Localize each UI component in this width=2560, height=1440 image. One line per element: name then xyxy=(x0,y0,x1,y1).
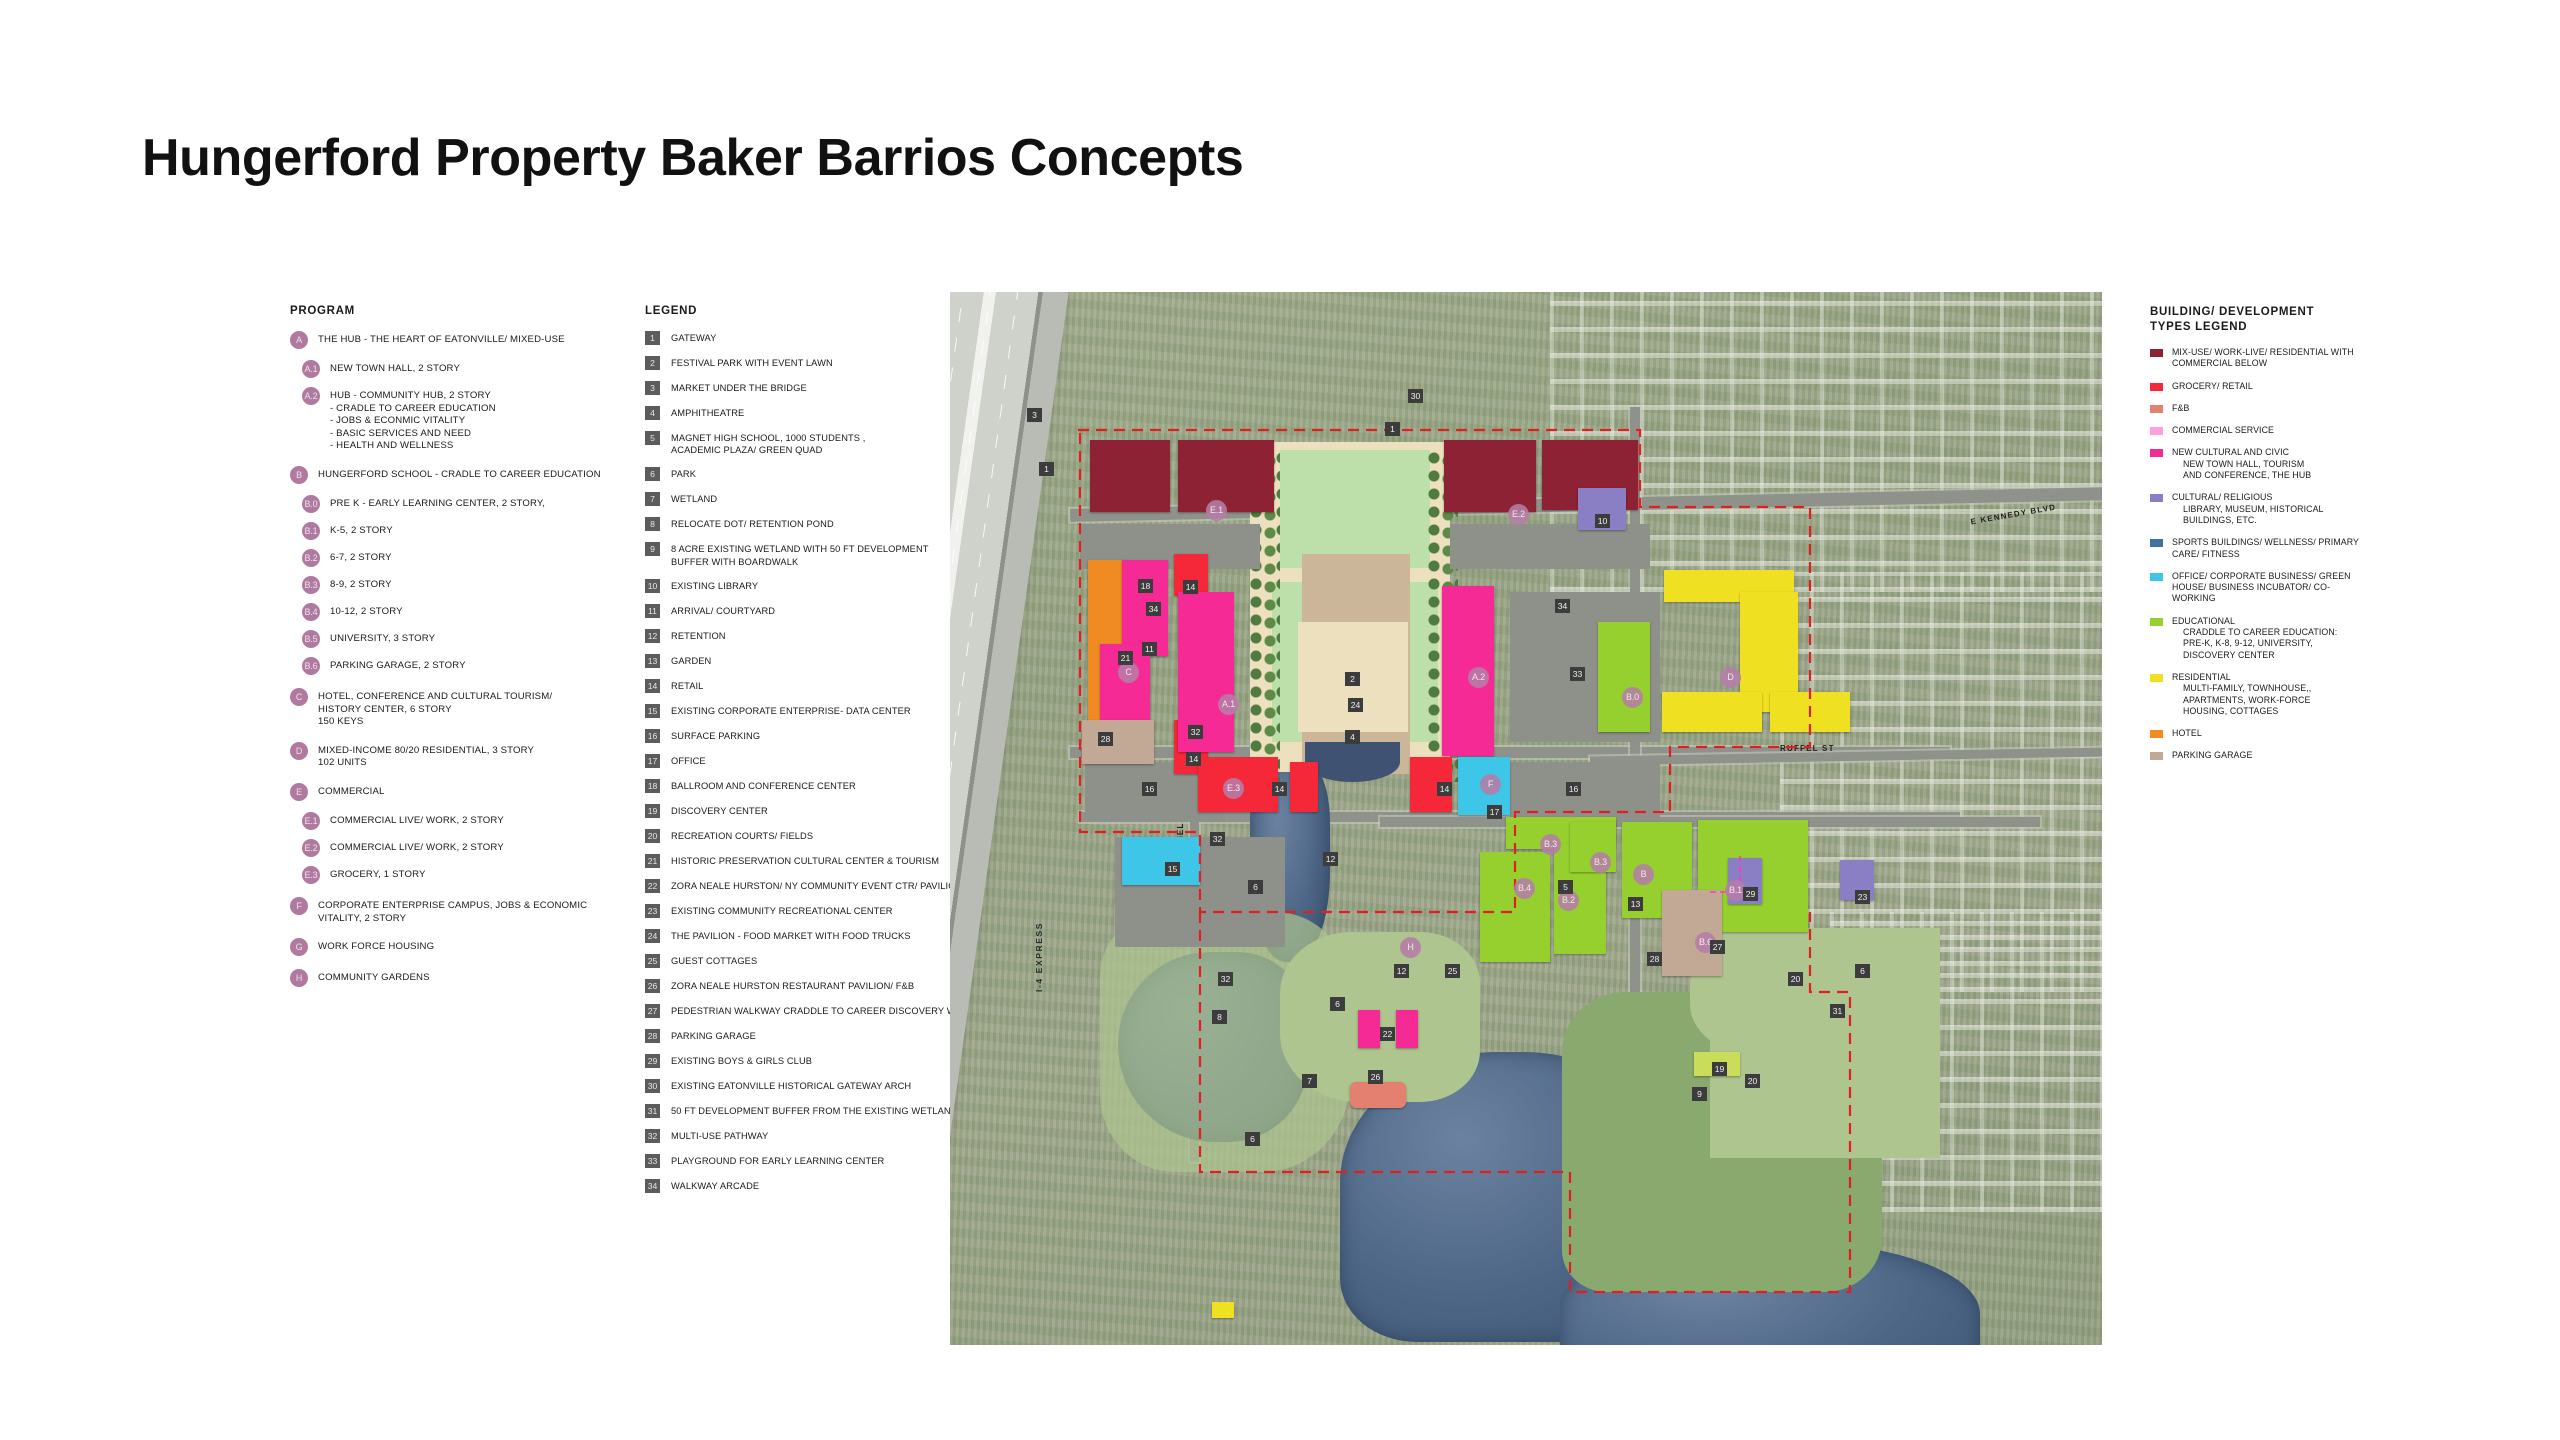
legend-number-badge: 31 xyxy=(645,1104,660,1118)
program-item-label: WORK FORCE HOUSING xyxy=(318,938,434,954)
map-legend-marker[interactable]: 16 xyxy=(1142,782,1157,796)
program-item-b-5: B.5UNIVERSITY, 3 STORY xyxy=(290,630,620,648)
color-swatch xyxy=(2150,674,2163,682)
legend-item-label: GATEWAY xyxy=(671,331,716,344)
program-item-label: COMMERCIAL xyxy=(318,783,385,799)
legend-item-label: WETLAND xyxy=(671,492,717,505)
legend-item-label: MAGNET HIGH SCHOOL, 1000 STUDENTS , ACAD… xyxy=(671,431,865,456)
map-legend-marker[interactable]: 14 xyxy=(1183,580,1198,594)
program-badge: C xyxy=(290,688,308,706)
map-legend-marker[interactable]: 28 xyxy=(1647,952,1662,966)
legend-number-badge: 23 xyxy=(645,904,660,918)
map-legend-marker[interactable]: 10 xyxy=(1595,514,1610,528)
building-type-title: HOTEL xyxy=(2172,728,2440,739)
legend-item-label: GARDEN xyxy=(671,654,711,667)
program-badge: E.1 xyxy=(302,812,320,830)
building-type-item: OFFICE/ CORPORATE BUSINESS/ GREEN HOUSE/… xyxy=(2150,571,2440,605)
building-type-body: HOTEL xyxy=(2172,728,2440,739)
color-swatch xyxy=(2150,405,2163,413)
building-a1-town-hall xyxy=(1178,592,1234,752)
program-badge: B.0 xyxy=(302,495,320,513)
map-legend-marker[interactable]: 34 xyxy=(1146,602,1161,616)
building-types-list: MIX-USE/ WORK-LIVE/ RESIDENTIAL WITH COM… xyxy=(2150,347,2440,762)
map-program-marker[interactable]: E.1 xyxy=(1206,500,1227,521)
legend-item-15: 15EXISTING CORPORATE ENTERPRISE- DATA CE… xyxy=(645,704,975,718)
map-program-marker[interactable]: B.4 xyxy=(1514,878,1535,899)
building-type-item: GROCERY/ RETAIL xyxy=(2150,381,2440,392)
building-type-body: NEW CULTURAL AND CIVICNEW TOWN HALL, TOU… xyxy=(2172,447,2440,481)
program-badge: B.3 xyxy=(302,576,320,594)
legend-item-6: 6PARK xyxy=(645,467,975,481)
map-legend-marker[interactable]: 6 xyxy=(1245,1132,1260,1146)
building-15-data-center xyxy=(1122,837,1200,885)
color-swatch xyxy=(2150,573,2163,581)
legend-item-label: WALKWAY ARCADE xyxy=(671,1179,759,1192)
building-e1-a xyxy=(1090,440,1170,512)
program-badge: G xyxy=(290,938,308,956)
map-legend-marker[interactable]: 27 xyxy=(1710,940,1725,954)
legend-item-19: 19DISCOVERY CENTER xyxy=(645,804,975,818)
legend-item-label: AMPHITHEATRE xyxy=(671,406,744,419)
legend-number-badge: 27 xyxy=(645,1004,660,1018)
legend-number-badge: 18 xyxy=(645,779,660,793)
legend-item-label: RECREATION COURTS/ FIELDS xyxy=(671,829,813,842)
legend-number-badge: 3 xyxy=(645,381,660,395)
legend-item-label: HISTORIC PRESERVATION CULTURAL CENTER & … xyxy=(671,854,939,867)
program-item-a-2: A.2HUB - COMMUNITY HUB, 2 STORY - CRADLE… xyxy=(290,387,620,453)
building-type-body: SPORTS BUILDINGS/ WELLNESS/ PRIMARY CARE… xyxy=(2172,537,2440,560)
building-type-sublabel: CRADDLE TO CAREER EDUCATION: PRE-K, K-8,… xyxy=(2183,627,2440,661)
map-legend-marker[interactable]: 1 xyxy=(1039,462,1054,476)
map-legend-marker[interactable]: 12 xyxy=(1323,852,1338,866)
building-type-body: F&B xyxy=(2172,403,2440,414)
map-legend-marker[interactable]: 16 xyxy=(1566,782,1581,796)
legend-number-badge: 28 xyxy=(645,1029,660,1043)
legend-item-label: 8 ACRE EXISTING WETLAND WITH 50 FT DEVEL… xyxy=(671,542,929,567)
legend-column: LEGEND 1GATEWAY2FESTIVAL PARK WITH EVENT… xyxy=(645,305,975,1204)
map-legend-marker[interactable]: 19 xyxy=(1712,1062,1727,1076)
legend-item-label: 50 FT DEVELOPMENT BUFFER FROM THE EXISTI… xyxy=(671,1104,958,1117)
building-28-parking-garage xyxy=(1082,720,1154,764)
building-type-title: CULTURAL/ RELIGIOUS xyxy=(2172,492,2440,503)
building-type-item: RESIDENTIALMULTI-FAMILY, TOWNHOUSE,, APA… xyxy=(2150,672,2440,717)
legend-heading: LEGEND xyxy=(645,305,975,317)
program-badge: E.2 xyxy=(302,839,320,857)
program-item-label: COMMERCIAL LIVE/ WORK, 2 STORY xyxy=(330,839,504,855)
map-legend-marker[interactable]: 15 xyxy=(1165,862,1180,876)
map-program-marker[interactable]: E.3 xyxy=(1223,778,1244,799)
map-legend-marker[interactable]: 17 xyxy=(1487,805,1502,819)
program-item-label: PARKING GARAGE, 2 STORY xyxy=(330,657,466,673)
map-program-marker[interactable]: H xyxy=(1400,937,1421,958)
map-legend-marker[interactable]: 12 xyxy=(1394,964,1409,978)
legend-item-16: 16SURFACE PARKING xyxy=(645,729,975,743)
map-legend-marker[interactable]: 14 xyxy=(1437,782,1452,796)
legend-item-label: GUEST COTTAGES xyxy=(671,954,757,967)
building-type-item: PARKING GARAGE xyxy=(2150,750,2440,761)
legend-item-label: PARK xyxy=(671,467,696,480)
program-item-b-1: B.1K-5, 2 STORY xyxy=(290,522,620,540)
legend-item-label: EXISTING BOYS & GIRLS CLUB xyxy=(671,1054,812,1067)
map-legend-marker[interactable]: 5 xyxy=(1558,880,1573,894)
building-type-title: F&B xyxy=(2172,403,2440,414)
program-item-label: UNIVERSITY, 3 STORY xyxy=(330,630,435,646)
slide-canvas: Hungerford Property Baker Barrios Concep… xyxy=(0,0,2560,1440)
legend-item-label: RETAIL xyxy=(671,679,703,692)
program-badge: H xyxy=(290,969,308,987)
legend-item-label: ARRIVAL/ COURTYARD xyxy=(671,604,775,617)
color-swatch xyxy=(2150,494,2163,502)
legend-number-badge: 1 xyxy=(645,331,660,345)
map-legend-marker[interactable]: 32 xyxy=(1210,832,1225,846)
program-item-b-0: B.0PRE K - EARLY LEARNING CENTER, 2 STOR… xyxy=(290,495,620,513)
program-badge: B.4 xyxy=(302,603,320,621)
legend-item-label: EXISTING CORPORATE ENTERPRISE- DATA CENT… xyxy=(671,704,911,717)
map-legend-marker[interactable]: 25 xyxy=(1445,964,1460,978)
legend-list: 1GATEWAY2FESTIVAL PARK WITH EVENT LAWN3M… xyxy=(645,331,975,1193)
building-e1-b xyxy=(1178,440,1274,512)
program-item-e-3: E.3GROCERY, 1 STORY xyxy=(290,866,620,884)
program-badge: F xyxy=(290,897,308,915)
building-type-item: SPORTS BUILDINGS/ WELLNESS/ PRIMARY CARE… xyxy=(2150,537,2440,560)
program-item-label: HUNGERFORD SCHOOL - CRADLE TO CAREER EDU… xyxy=(318,466,601,482)
building-14-retail-mid xyxy=(1290,762,1318,812)
map-legend-marker[interactable]: 9 xyxy=(1692,1087,1707,1101)
program-item-label: HUB - COMMUNITY HUB, 2 STORY - CRADLE TO… xyxy=(330,387,496,453)
program-column: PROGRAM ATHE HUB - THE HEART OF EATONVIL… xyxy=(290,305,620,998)
map-legend-marker[interactable]: 20 xyxy=(1788,972,1803,986)
legend-item-4: 4AMPHITHEATRE xyxy=(645,406,975,420)
building-22-pavilion-b xyxy=(1396,1010,1418,1048)
map-program-marker[interactable]: F xyxy=(1480,774,1501,795)
event-lawn-north xyxy=(1280,450,1430,568)
legend-item-13: 13GARDEN xyxy=(645,654,975,668)
map-legend-marker[interactable]: 6 xyxy=(1855,964,1870,978)
program-badge: B.1 xyxy=(302,522,320,540)
legend-number-badge: 17 xyxy=(645,754,660,768)
legend-item-label: THE PAVILION - FOOD MARKET WITH FOOD TRU… xyxy=(671,929,911,942)
building-type-title: RESIDENTIAL xyxy=(2172,672,2440,683)
building-type-title: GROCERY/ RETAIL xyxy=(2172,381,2440,392)
legend-item-24: 24THE PAVILION - FOOD MARKET WITH FOOD T… xyxy=(645,929,975,943)
legend-number-badge: 14 xyxy=(645,679,660,693)
page-title: Hungerford Property Baker Barrios Concep… xyxy=(142,128,1243,188)
legend-number-badge: 20 xyxy=(645,829,660,843)
program-item-c: CHOTEL, CONFERENCE AND CULTURAL TOURISM/… xyxy=(290,688,620,729)
program-badge: B xyxy=(290,466,308,484)
legend-number-badge: 5 xyxy=(645,431,660,445)
building-type-title: EDUCATIONAL xyxy=(2172,616,2440,627)
i4-express-label: I-4 EXPRESS xyxy=(1034,922,1044,992)
legend-number-badge: 24 xyxy=(645,929,660,943)
program-item-d: DMIXED-INCOME 80/20 RESIDENTIAL, 3 STORY… xyxy=(290,742,620,770)
program-item-label: COMMERCIAL LIVE/ WORK, 2 STORY xyxy=(330,812,504,828)
building-type-title: SPORTS BUILDINGS/ WELLNESS/ PRIMARY CARE… xyxy=(2172,537,2440,560)
program-badge: E.3 xyxy=(302,866,320,884)
legend-number-badge: 26 xyxy=(645,979,660,993)
building-type-item: COMMERCIAL SERVICE xyxy=(2150,425,2440,436)
legend-item-11: 11ARRIVAL/ COURTYARD xyxy=(645,604,975,618)
building-type-title: NEW CULTURAL AND CIVIC xyxy=(2172,447,2440,458)
legend-number-badge: 29 xyxy=(645,1054,660,1068)
park-west xyxy=(1100,912,1350,1172)
color-swatch xyxy=(2150,539,2163,547)
legend-item-10: 10EXISTING LIBRARY xyxy=(645,579,975,593)
program-item-label: 6-7, 2 STORY xyxy=(330,549,392,565)
building-d-residential-d xyxy=(1770,692,1850,732)
map-legend-marker[interactable]: 32 xyxy=(1218,972,1233,986)
legend-item-label: EXISTING LIBRARY xyxy=(671,579,758,592)
legend-item-30: 30EXISTING EATONVILLE HISTORICAL GATEWAY… xyxy=(645,1079,975,1093)
map-program-marker[interactable]: E.2 xyxy=(1508,504,1529,525)
map-legend-marker[interactable]: 29 xyxy=(1743,887,1758,901)
program-item-label: PRE K - EARLY LEARNING CENTER, 2 STORY, xyxy=(330,495,545,511)
map-legend-marker[interactable]: 24 xyxy=(1348,698,1363,712)
map-legend-marker[interactable]: 6 xyxy=(1330,997,1345,1011)
program-item-h: HCOMMUNITY GARDENS xyxy=(290,969,620,987)
legend-item-label: ZORA NEALE HURSTON RESTAURANT PAVILION/ … xyxy=(671,979,914,992)
building-type-body: RESIDENTIALMULTI-FAMILY, TOWNHOUSE,, APA… xyxy=(2172,672,2440,717)
color-swatch xyxy=(2150,349,2163,357)
legend-item-25: 25GUEST COTTAGES xyxy=(645,954,975,968)
map-legend-marker[interactable]: 3 xyxy=(1027,408,1042,422)
legend-item-label: OFFICE xyxy=(671,754,706,767)
program-item-b-6: B.6PARKING GARAGE, 2 STORY xyxy=(290,657,620,675)
legend-number-badge: 13 xyxy=(645,654,660,668)
legend-number-badge: 32 xyxy=(645,1129,660,1143)
legend-item-32: 32MULTI-USE PATHWAY xyxy=(645,1129,975,1143)
program-badge: D xyxy=(290,742,308,760)
map-legend-marker[interactable]: 4 xyxy=(1345,730,1360,744)
ruffel-st-label: RUFFEL ST xyxy=(1780,744,1835,753)
building-south-residential xyxy=(1212,1302,1234,1318)
program-item-label: K-5, 2 STORY xyxy=(330,522,393,538)
program-badge: A xyxy=(290,331,308,349)
legend-item-label: RELOCATE DOT/ RETENTION POND xyxy=(671,517,834,530)
program-item-e-2: E.2COMMERCIAL LIVE/ WORK, 2 STORY xyxy=(290,839,620,857)
legend-item-label: RETENTION xyxy=(671,629,726,642)
legend-item-label: MARKET UNDER THE BRIDGE xyxy=(671,381,807,394)
program-item-a-1: A.1NEW TOWN HALL, 2 STORY xyxy=(290,360,620,378)
map-program-marker[interactable]: B.3 xyxy=(1540,834,1561,855)
map-legend-marker[interactable]: 8 xyxy=(1212,1010,1227,1024)
legend-number-badge: 12 xyxy=(645,629,660,643)
map-legend-marker[interactable]: 31 xyxy=(1830,1004,1845,1018)
map-legend-marker[interactable]: 14 xyxy=(1272,782,1287,796)
legend-item-17: 17OFFICE xyxy=(645,754,975,768)
program-item-label: HOTEL, CONFERENCE AND CULTURAL TOURISM/ … xyxy=(318,688,552,729)
building-22-pavilion-a xyxy=(1358,1010,1380,1048)
legend-number-badge: 21 xyxy=(645,854,660,868)
legend-number-badge: 30 xyxy=(645,1079,660,1093)
building-type-sublabel: NEW TOWN HALL, TOURISM AND CONFERENCE, T… xyxy=(2183,459,2440,482)
legend-number-badge: 6 xyxy=(645,467,660,481)
program-badge: A.1 xyxy=(302,360,320,378)
map-legend-marker[interactable]: 6 xyxy=(1248,880,1263,894)
color-swatch xyxy=(2150,730,2163,738)
program-item-label: COMMUNITY GARDENS xyxy=(318,969,430,985)
building-type-body: COMMERCIAL SERVICE xyxy=(2172,425,2440,436)
map-program-marker[interactable]: A.1 xyxy=(1218,694,1239,715)
map-program-marker[interactable]: C xyxy=(1118,662,1139,683)
legend-number-badge: 15 xyxy=(645,704,660,718)
legend-item-label: PLAYGROUND FOR EARLY LEARNING CENTER xyxy=(671,1154,884,1167)
map-program-marker[interactable]: B.3 xyxy=(1590,852,1611,873)
legend-item-label: EXISTING EATONVILLE HISTORICAL GATEWAY A… xyxy=(671,1079,911,1092)
program-item-b-4: B.410-12, 2 STORY xyxy=(290,603,620,621)
building-type-sublabel: MULTI-FAMILY, TOWNHOUSE,, APARTMENTS, WO… xyxy=(2183,683,2440,717)
building-type-item: EDUCATIONALCRADDLE TO CAREER EDUCATION: … xyxy=(2150,616,2440,661)
building-type-sublabel: LIBRARY, MUSEUM, HISTORICAL BUILDINGS, E… xyxy=(2183,504,2440,527)
building-26-restaurant xyxy=(1350,1082,1406,1108)
program-item-g: GWORK FORCE HOUSING xyxy=(290,938,620,956)
legend-number-badge: 34 xyxy=(645,1179,660,1193)
map-legend-marker[interactable]: 33 xyxy=(1570,667,1585,681)
legend-number-badge: 9 xyxy=(645,542,660,556)
legend-item-label: SURFACE PARKING xyxy=(671,729,760,742)
map-legend-marker[interactable]: 18 xyxy=(1138,579,1153,593)
map-legend-marker[interactable]: 20 xyxy=(1745,1074,1760,1088)
map-program-marker[interactable]: D xyxy=(1720,667,1741,688)
map-legend-marker[interactable]: 7 xyxy=(1302,1074,1317,1088)
color-swatch xyxy=(2150,383,2163,391)
legend-item-label: PARKING GARAGE xyxy=(671,1029,756,1042)
legend-item-label: DISCOVERY CENTER xyxy=(671,804,768,817)
program-item-label: NEW TOWN HALL, 2 STORY xyxy=(330,360,460,376)
building-type-body: EDUCATIONALCRADDLE TO CAREER EDUCATION: … xyxy=(2172,616,2440,661)
legend-item-1: 1GATEWAY xyxy=(645,331,975,345)
legend-number-badge: 16 xyxy=(645,729,660,743)
program-item-label: GROCERY, 1 STORY xyxy=(330,866,426,882)
map-legend-marker[interactable]: 32 xyxy=(1188,725,1203,739)
legend-item-2: 2FESTIVAL PARK WITH EVENT LAWN xyxy=(645,356,975,370)
legend-item-28: 28PARKING GARAGE xyxy=(645,1029,975,1043)
building-b4 xyxy=(1480,852,1550,962)
building-type-item: HOTEL xyxy=(2150,728,2440,739)
map-program-marker[interactable]: B xyxy=(1633,864,1654,885)
map-legend-marker[interactable]: 30 xyxy=(1408,389,1423,403)
program-badge: A.2 xyxy=(302,387,320,405)
legend-item-9: 98 ACRE EXISTING WETLAND WITH 50 FT DEVE… xyxy=(645,542,975,567)
building-type-body: GROCERY/ RETAIL xyxy=(2172,381,2440,392)
program-item-label: 10-12, 2 STORY xyxy=(330,603,403,619)
building-types-heading: BUILDING/ DEVELOPMENT TYPES LEGEND xyxy=(2150,305,2440,335)
legend-item-7: 7WETLAND xyxy=(645,492,975,506)
legend-number-badge: 19 xyxy=(645,804,660,818)
site-plan-map[interactable]: I-4 EXPRESS E KENNEDY BLVD S COLLEGE AVE… xyxy=(950,292,2102,1345)
program-list: ATHE HUB - THE HEART OF EATONVILLE/ MIXE… xyxy=(290,331,620,987)
building-type-title: MIX-USE/ WORK-LIVE/ RESIDENTIAL WITH COM… xyxy=(2172,347,2440,370)
legend-item-23: 23EXISTING COMMUNITY RECREATIONAL CENTER xyxy=(645,904,975,918)
map-legend-marker[interactable]: 2 xyxy=(1345,672,1360,686)
program-item-e-1: E.1COMMERCIAL LIVE/ WORK, 2 STORY xyxy=(290,812,620,830)
legend-item-33: 33PLAYGROUND FOR EARLY LEARNING CENTER xyxy=(645,1154,975,1168)
building-type-item: F&B xyxy=(2150,403,2440,414)
legend-item-29: 29EXISTING BOYS & GIRLS CLUB xyxy=(645,1054,975,1068)
legend-item-5: 5MAGNET HIGH SCHOOL, 1000 STUDENTS , ACA… xyxy=(645,431,975,456)
color-swatch xyxy=(2150,449,2163,457)
map-legend-marker[interactable]: 26 xyxy=(1368,1070,1383,1084)
legend-number-badge: 4 xyxy=(645,406,660,420)
building-d-residential-c xyxy=(1662,692,1762,732)
legend-item-20: 20RECREATION COURTS/ FIELDS xyxy=(645,829,975,843)
building-types-legend: BUILDING/ DEVELOPMENT TYPES LEGEND MIX-U… xyxy=(2150,305,2440,773)
rec-fields-20 xyxy=(1710,928,1940,1158)
legend-item-14: 14RETAIL xyxy=(645,679,975,693)
program-item-b-2: B.26-7, 2 STORY xyxy=(290,549,620,567)
legend-item-22: 22ZORA NEALE HURSTON/ NY COMMUNITY EVENT… xyxy=(645,879,975,893)
legend-item-34: 34WALKWAY ARCADE xyxy=(645,1179,975,1193)
program-badge: B.6 xyxy=(302,657,320,675)
program-badge: B.5 xyxy=(302,630,320,648)
map-legend-marker[interactable]: 14 xyxy=(1186,752,1201,766)
program-item-e: ECOMMERCIAL xyxy=(290,783,620,801)
legend-item-31: 3150 FT DEVELOPMENT BUFFER FROM THE EXIS… xyxy=(645,1104,975,1118)
program-badge: B.2 xyxy=(302,549,320,567)
legend-number-badge: 25 xyxy=(645,954,660,968)
legend-number-badge: 8 xyxy=(645,517,660,531)
program-item-a: ATHE HUB - THE HEART OF EATONVILLE/ MIXE… xyxy=(290,331,620,349)
building-type-body: PARKING GARAGE xyxy=(2172,750,2440,761)
legend-item-label: FESTIVAL PARK WITH EVENT LAWN xyxy=(671,356,833,369)
map-program-marker[interactable]: A.2 xyxy=(1468,667,1489,688)
legend-number-badge: 33 xyxy=(645,1154,660,1168)
legend-number-badge: 22 xyxy=(645,879,660,893)
legend-item-label: PEDESTRIAN WALKWAY CRADDLE TO CAREER DIS… xyxy=(671,1004,973,1017)
legend-item-8: 8RELOCATE DOT/ RETENTION POND xyxy=(645,517,975,531)
legend-item-18: 18BALLROOM AND CONFERENCE CENTER xyxy=(645,779,975,793)
building-type-title: OFFICE/ CORPORATE BUSINESS/ GREEN HOUSE/… xyxy=(2172,571,2440,605)
legend-item-26: 26ZORA NEALE HURSTON RESTAURANT PAVILION… xyxy=(645,979,975,993)
map-program-marker[interactable]: B.0 xyxy=(1622,687,1643,708)
legend-number-badge: 2 xyxy=(645,356,660,370)
color-swatch xyxy=(2150,427,2163,435)
legend-item-label: EXISTING COMMUNITY RECREATIONAL CENTER xyxy=(671,904,893,917)
building-type-item: CULTURAL/ RELIGIOUSLIBRARY, MUSEUM, HIST… xyxy=(2150,492,2440,526)
map-legend-marker[interactable]: 21 xyxy=(1118,651,1133,665)
map-legend-marker[interactable]: 23 xyxy=(1855,890,1870,904)
program-item-label: 8-9, 2 STORY xyxy=(330,576,392,592)
map-legend-marker[interactable]: 28 xyxy=(1098,732,1113,746)
map-legend-marker[interactable]: 13 xyxy=(1628,897,1643,911)
building-type-body: OFFICE/ CORPORATE BUSINESS/ GREEN HOUSE/… xyxy=(2172,571,2440,605)
legend-number-badge: 11 xyxy=(645,604,660,618)
legend-number-badge: 7 xyxy=(645,492,660,506)
program-item-b: BHUNGERFORD SCHOOL - CRADLE TO CAREER ED… xyxy=(290,466,620,484)
parking-lot-ne xyxy=(1450,524,1650,569)
program-item-label: THE HUB - THE HEART OF EATONVILLE/ MIXED… xyxy=(318,331,565,347)
building-type-item: MIX-USE/ WORK-LIVE/ RESIDENTIAL WITH COM… xyxy=(2150,347,2440,370)
building-e2-a xyxy=(1444,440,1536,512)
building-type-title: COMMERCIAL SERVICE xyxy=(2172,425,2440,436)
surface-parking-16-e xyxy=(1510,762,1660,822)
program-item-label: MIXED-INCOME 80/20 RESIDENTIAL, 3 STORY … xyxy=(318,742,534,770)
legend-item-12: 12RETENTION xyxy=(645,629,975,643)
map-legend-marker[interactable]: 34 xyxy=(1555,599,1570,613)
building-type-item: NEW CULTURAL AND CIVICNEW TOWN HALL, TOU… xyxy=(2150,447,2440,481)
map-legend-marker[interactable]: 1 xyxy=(1385,422,1400,436)
legend-item-3: 3MARKET UNDER THE BRIDGE xyxy=(645,381,975,395)
building-type-body: CULTURAL/ RELIGIOUSLIBRARY, MUSEUM, HIST… xyxy=(2172,492,2440,526)
building-b6-parking-garage xyxy=(1662,890,1722,976)
legend-number-badge: 10 xyxy=(645,579,660,593)
legend-item-label: ZORA NEALE HURSTON/ NY COMMUNITY EVENT C… xyxy=(671,879,962,892)
color-swatch xyxy=(2150,618,2163,626)
map-legend-marker[interactable]: 22 xyxy=(1380,1027,1395,1041)
map-legend-marker[interactable]: 11 xyxy=(1142,642,1157,656)
program-item-label: CORPORATE ENTERPRISE CAMPUS, JOBS & ECON… xyxy=(318,897,620,925)
legend-item-27: 27PEDESTRIAN WALKWAY CRADDLE TO CAREER D… xyxy=(645,1004,975,1018)
